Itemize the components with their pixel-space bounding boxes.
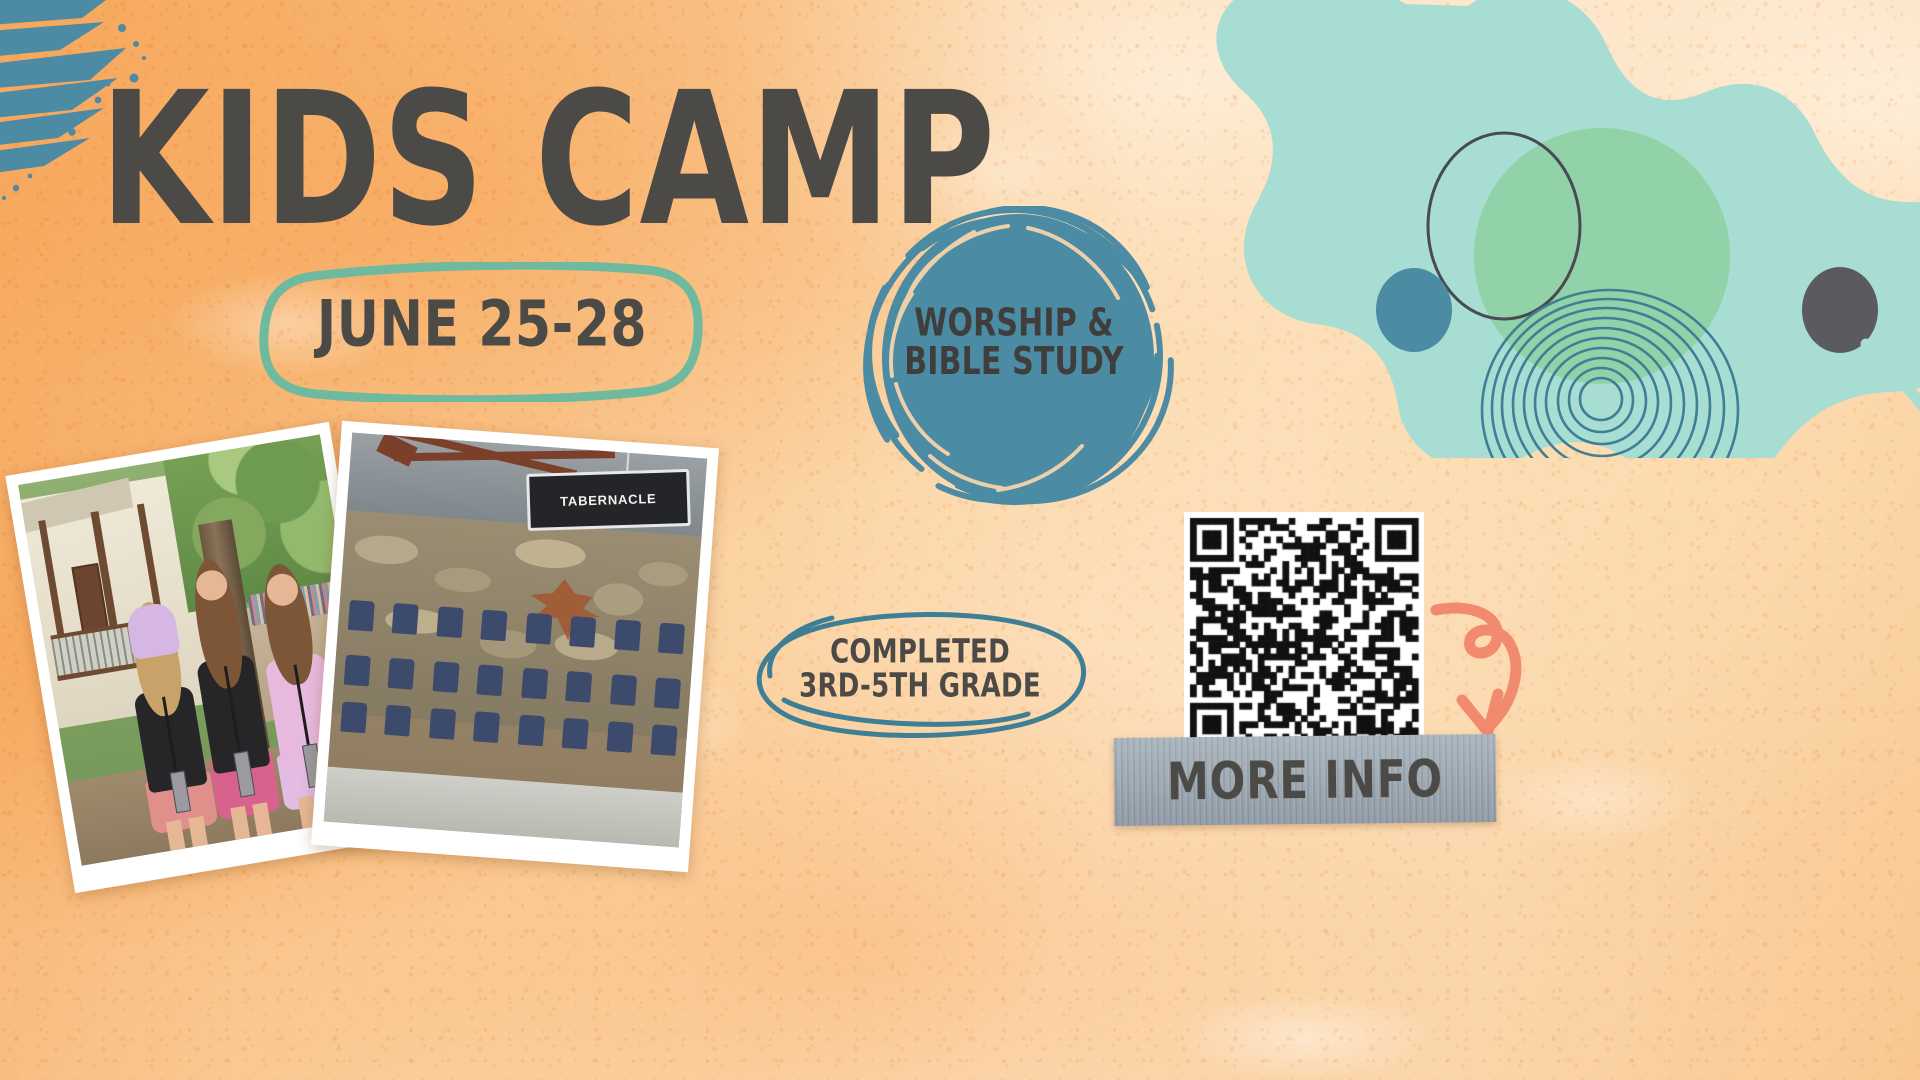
group-photo-tabernacle[interactable]: TABERNACLE: [311, 421, 719, 873]
tabernacle-sign-text: TABERNACLE: [560, 490, 657, 508]
photo-scene: TABERNACLE: [324, 433, 708, 848]
qr-code[interactable]: [1184, 512, 1424, 744]
poster-canvas: KIDS CAMP JUNE 25-28 WORSHIP & BIBLE STU…: [0, 0, 1920, 1080]
more-info-label: MORE INFO: [1167, 749, 1444, 812]
activity-badge-label: WORSHIP & BIBLE STUDY: [868, 305, 1160, 382]
curved-down-arrow-icon: [1426, 596, 1536, 756]
date-badge-label: JUNE 25-28: [292, 288, 672, 361]
audience-badge-label: COMPLETED 3RD-5TH GRADE: [766, 636, 1074, 705]
audience-badge-line1: COMPLETED: [766, 636, 1074, 670]
activity-badge-line2: BIBLE STUDY: [868, 343, 1160, 381]
decorative-blob: [1150, 0, 1920, 458]
activity-badge-line1: WORSHIP &: [868, 305, 1160, 343]
audience-badge-line2: 3RD-5TH GRADE: [766, 670, 1074, 704]
more-info-button[interactable]: MORE INFO: [1114, 734, 1497, 826]
tabernacle-sign: TABERNACLE: [526, 468, 690, 530]
